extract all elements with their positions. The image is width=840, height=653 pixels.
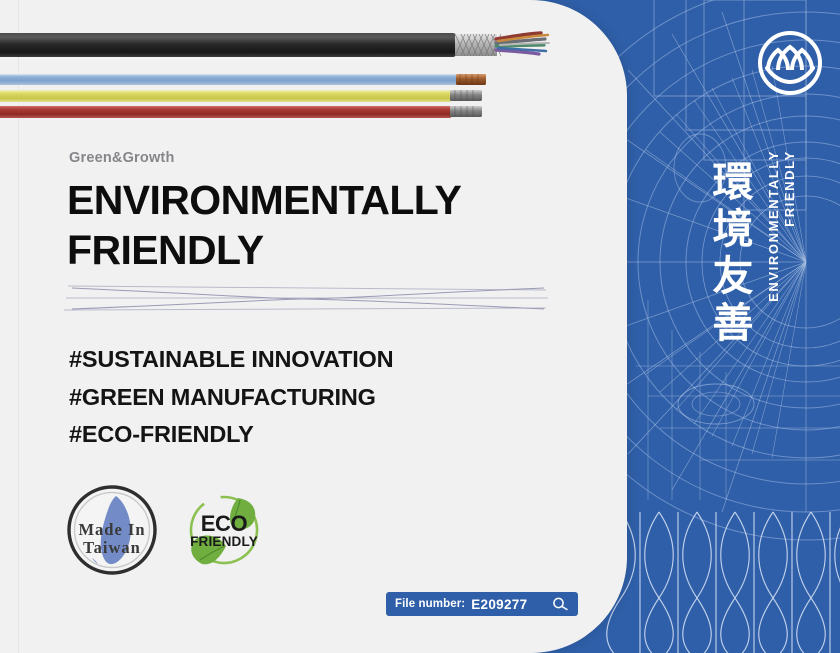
cable-blue-conductor	[456, 74, 486, 85]
file-number-label: File number:	[395, 598, 465, 610]
page-title: ENVIRONMENTALLY FRIENDLY	[67, 175, 587, 275]
hashtag-item-2: #ECO-FRIENDLY	[69, 416, 393, 454]
cable-inner-conductors	[496, 33, 549, 54]
hashtag-item-0: #SUSTAINABLE INNOVATION	[69, 341, 393, 379]
cable-braid-shield	[455, 34, 501, 56]
english-vertical-line1: ENVIRONMENTALLY	[766, 150, 781, 302]
hashtag-list: #SUSTAINABLE INNOVATION #GREEN MANUFACTU…	[69, 341, 393, 454]
magnifier-icon[interactable]	[551, 597, 569, 611]
eyebrow-label: Green&Growth	[69, 150, 175, 166]
poster-canvas: 環境友善 ENVIRONMENTALLY FRIENDLY	[0, 0, 840, 653]
taiwan-badge-line1: Made In	[78, 520, 145, 539]
taiwan-badge-line2: Taiwan	[83, 538, 141, 557]
made-in-taiwan-badge: Made In Taiwan	[66, 484, 158, 576]
cable-yellow-jacket	[0, 90, 452, 102]
cable-black-jacket	[0, 33, 456, 57]
eco-friendly-badge: ECO FRIENDLY	[182, 488, 266, 572]
headline-line-1: ENVIRONMENTALLY	[67, 175, 587, 225]
file-number-bar[interactable]: File number: E209277	[386, 592, 578, 616]
cable-red-jacket	[0, 106, 452, 118]
eco-badge-line1: ECO	[201, 511, 248, 536]
english-headline-vertical: ENVIRONMENTALLY FRIENDLY	[766, 150, 798, 302]
chinese-headline-vertical: 環境友善	[700, 160, 758, 348]
eco-badge-line2: FRIENDLY	[190, 534, 258, 549]
file-number-value: E209277	[471, 597, 527, 612]
cable-blue-jacket	[0, 74, 459, 85]
content-card: Green&Growth ENVIRONMENTALLY FRIENDLY #S…	[0, 0, 627, 653]
company-logo-icon	[755, 28, 825, 98]
decorative-rule-lines	[60, 276, 550, 320]
english-vertical-line2: FRIENDLY	[782, 150, 797, 227]
headline-line-2: FRIENDLY	[67, 225, 587, 275]
certification-badges: Made In Taiwan ECO FRIENDLY	[66, 484, 266, 576]
cable-product-illustration	[0, 0, 627, 140]
hashtag-item-1: #GREEN MANUFACTURING	[69, 379, 393, 417]
